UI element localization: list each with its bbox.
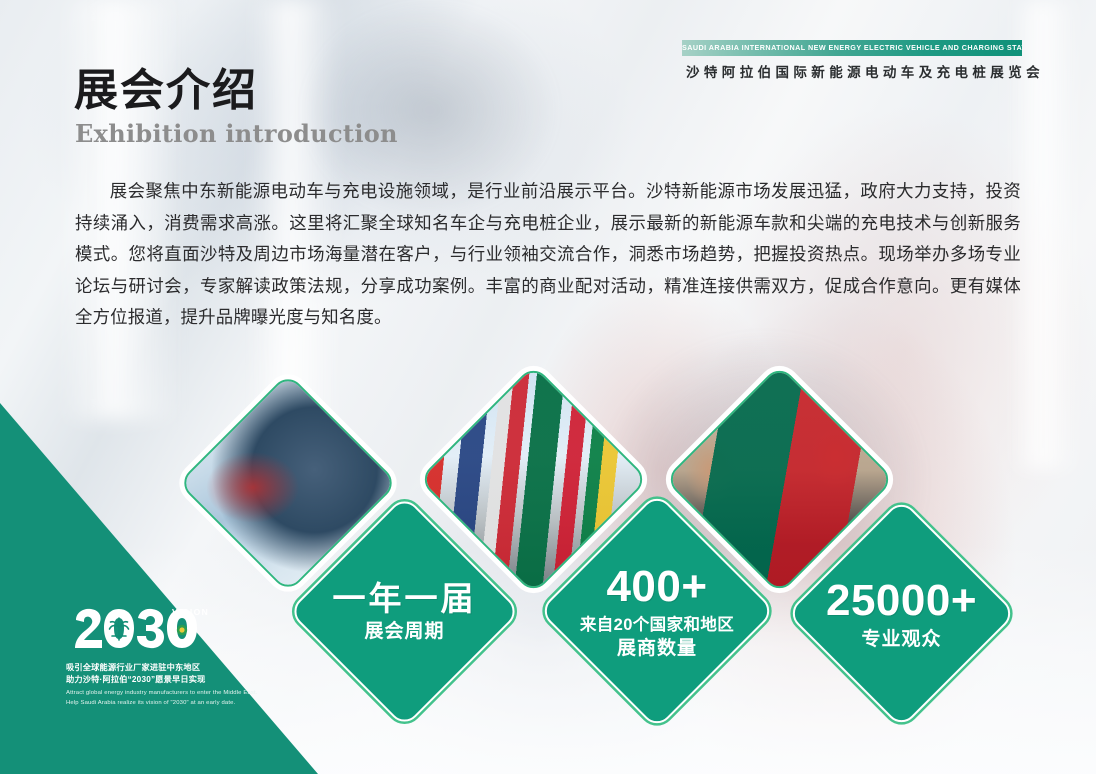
vision-2030-block: VISION 吸引全球能源行业厂家进驻中东地区 助力沙特·阿拉伯“2030”愿景… (66, 606, 246, 708)
vision-chinese-lines: 吸引全球能源行业厂家进驻中东地区 助力沙特·阿拉伯“2030”愿景早日实现 (66, 662, 246, 686)
vision-2030-logo: VISION (72, 606, 220, 654)
introduction-paragraph: 展会聚焦中东新能源电动车与充电设施领域，是行业前沿展示平台。沙特新能源市场发展迅… (75, 176, 1021, 334)
brand-english-band: SAUDI ARABIA INTERNATIONAL NEW ENERGY EL… (682, 40, 1022, 56)
stat-cycle-value: 一年一届 (333, 580, 477, 618)
brand-lockup: SAUDI ARABIA INTERNATIONAL NEW ENERGY EL… (682, 40, 1022, 81)
vision-cn-line-1: 吸引全球能源行业厂家进驻中东地区 (66, 662, 246, 674)
page-title: 展会介绍 (74, 66, 258, 117)
stat-card-exhibitors-content: 400+ 来自20个国家和地区 展商数量 (575, 529, 739, 693)
stat-card-cycle-content: 一年一届 展会周期 (324, 531, 485, 692)
svg-text:VISION: VISION (172, 607, 209, 617)
stat-cycle-label: 展会周期 (364, 621, 444, 643)
stat-exhibitors-label: 展商数量 (617, 638, 697, 660)
stat-visitors-value: 25000+ (826, 576, 977, 627)
brand-chinese-name: 沙特阿拉伯国际新能源电动车及充电桩展览会 (682, 61, 1022, 81)
exhibition-introduction-page: SAUDI ARABIA INTERNATIONAL NEW ENERGY EL… (0, 0, 1096, 774)
page-subtitle: Exhibition introduction (75, 119, 398, 148)
stat-card-visitors-content: 25000+ 专业观众 (822, 534, 981, 693)
vision-cn-line-2: 助力沙特·阿拉伯“2030”愿景早日实现 (66, 674, 246, 686)
vision-english-lines: Attract global energy industry manufactu… (66, 689, 246, 708)
stat-exhibitors-sub: 来自20个国家和地区 (580, 616, 734, 635)
stat-visitors-label: 专业观众 (861, 629, 941, 651)
stat-exhibitors-value: 400+ (606, 562, 707, 613)
vision-en-line-2: Help Saudi Arabia realize its vision of … (66, 699, 246, 709)
vision-en-line-1: Attract global energy industry manufactu… (66, 689, 246, 699)
